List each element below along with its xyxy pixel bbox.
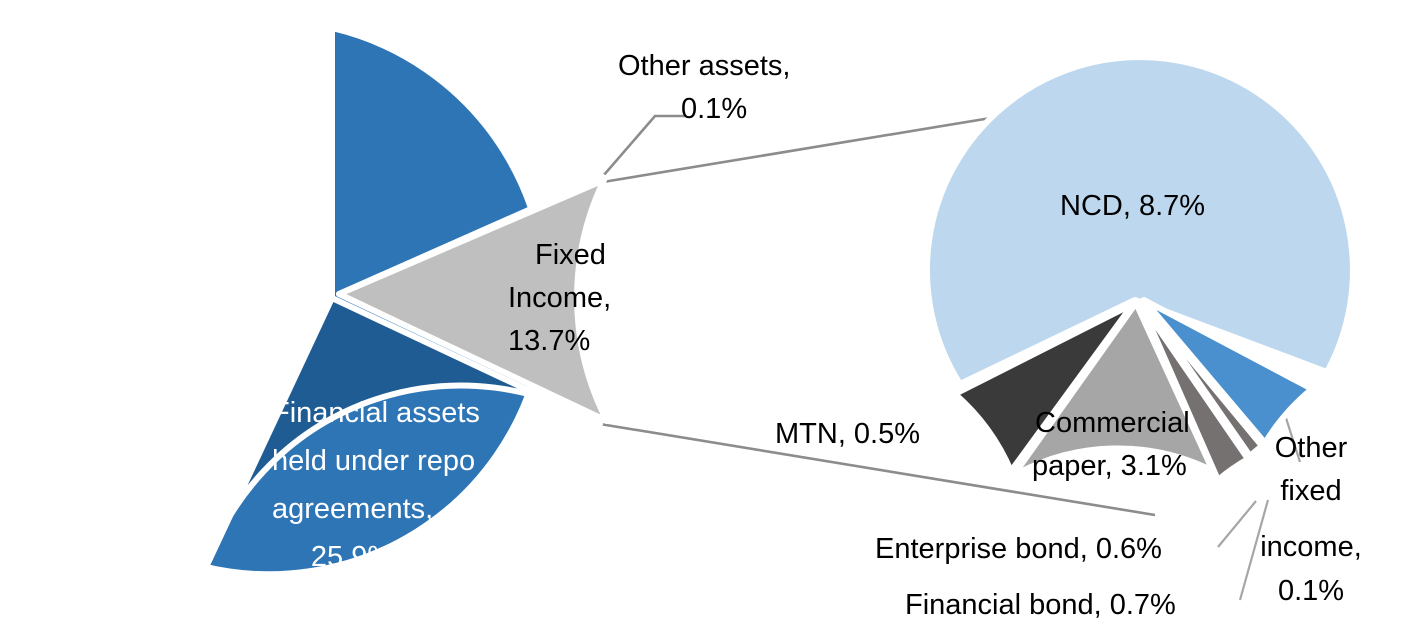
label-repo-line1: Financial assets (272, 397, 480, 429)
label-repo-line4: 25.9% (311, 541, 393, 573)
label-other-assets-line1: Other assets, (618, 50, 790, 82)
label-ncd: NCD, 8.7% (1060, 190, 1205, 222)
label-repo-line3: agreements, (272, 493, 433, 525)
label-fixed-income-line2: Income, (508, 282, 611, 314)
label-financial-bond: Financial bond, 0.7% (905, 589, 1176, 621)
label-other-assets-line2: 0.1% (681, 93, 747, 125)
label-fixed-income-line1: Fixed (535, 239, 606, 271)
label-bank-deposits-line2: 60.3% (138, 189, 220, 221)
label-other-fixed-line3: income, (1260, 531, 1362, 563)
label-repo-line2: held under repo (272, 445, 475, 477)
label-fixed-income-line3: 13.7% (508, 325, 590, 357)
label-commercial-paper-line2: paper, 3.1% (1032, 450, 1187, 482)
pie-of-pie-chart: Bank deposits, 60.3% Financial assets he… (0, 0, 1404, 644)
label-bank-deposits-line1: Bank deposits, (138, 145, 328, 177)
label-commercial-paper-line1: Commercial (1035, 407, 1190, 439)
chart-canvas: Bank deposits, 60.3% Financial assets he… (0, 0, 1404, 644)
label-other-fixed-line2: fixed (1280, 475, 1341, 507)
label-other-fixed-line1: Other (1275, 432, 1348, 464)
label-other-fixed-line4: 0.1% (1278, 575, 1344, 607)
label-enterprise-bond: Enterprise bond, 0.6% (875, 533, 1162, 565)
label-mtn: MTN, 0.5% (775, 418, 920, 450)
